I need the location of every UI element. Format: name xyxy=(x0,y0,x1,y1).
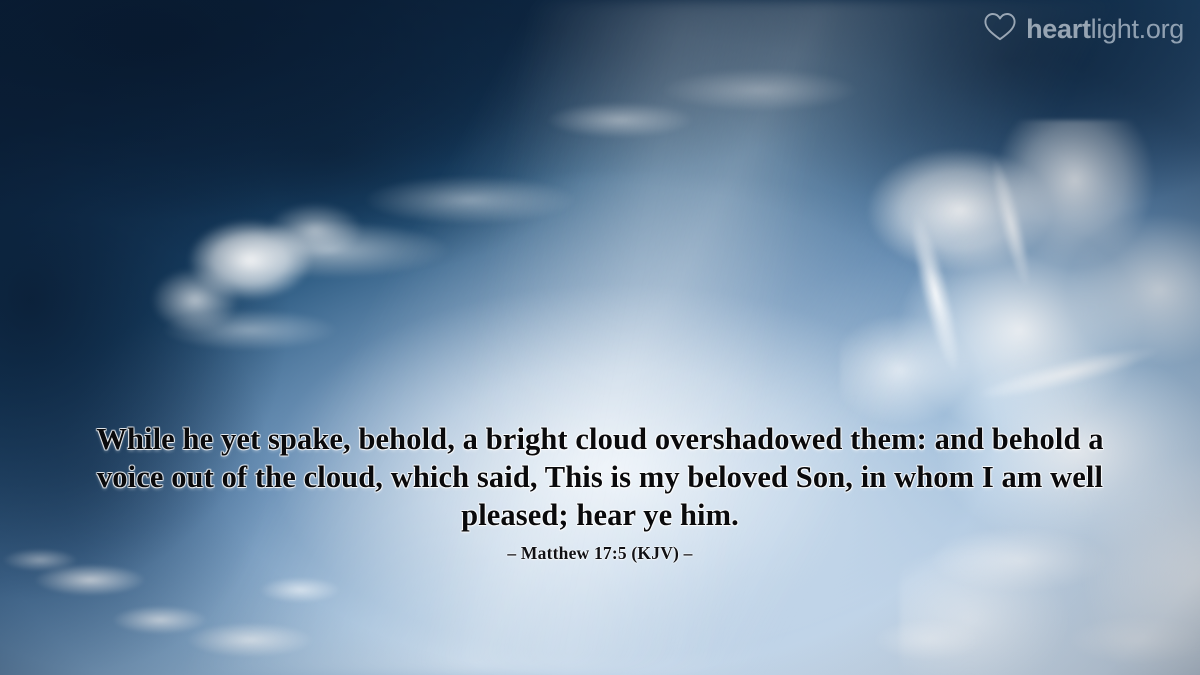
logo-wordmark: heartlight.org xyxy=(1026,16,1184,43)
logo-text-heart: heart xyxy=(1026,14,1091,44)
sunbreak-bright-cloud-left xyxy=(140,190,380,360)
logo-text-light-org: light.org xyxy=(1091,14,1184,44)
heartlight-logo[interactable]: heartlight.org xyxy=(983,12,1184,47)
verse-reference: – Matthew 17:5 (KJV) – xyxy=(96,543,1104,563)
heart-outline-icon xyxy=(983,12,1017,47)
verse-text: While he yet spake, behold, a bright clo… xyxy=(96,420,1104,534)
verse-block: While he yet spake, behold, a bright clo… xyxy=(0,420,1200,563)
verse-image-canvas: heartlight.org While he yet spake, behol… xyxy=(0,0,1200,675)
